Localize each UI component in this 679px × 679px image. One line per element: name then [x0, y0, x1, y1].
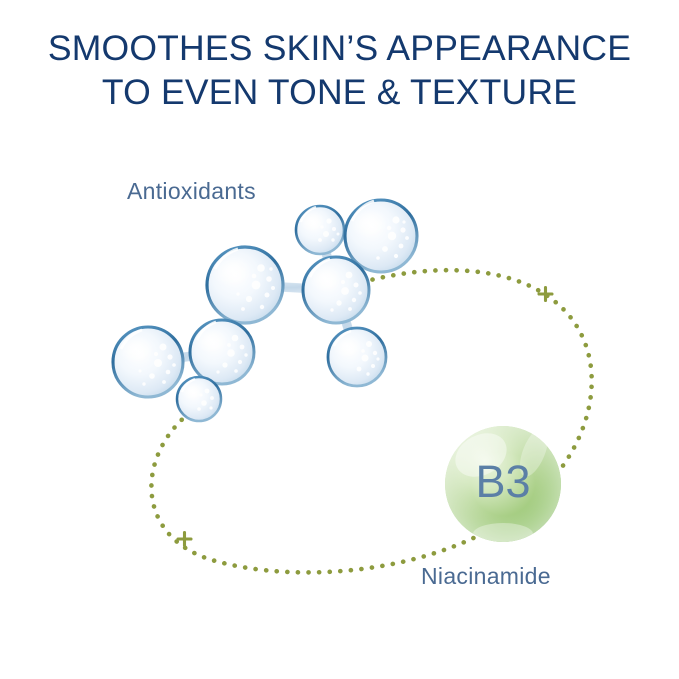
molecule-sphere [113, 327, 183, 397]
plus-icon-lower-left [178, 533, 191, 546]
b3-sphere-label: B3 [475, 456, 530, 507]
niacinamide-label: Niacinamide [421, 563, 551, 590]
page-title: SMOOTHES SKIN’S APPEARANCE TO EVEN TONE … [0, 26, 679, 114]
molecule-sphere [303, 257, 369, 323]
page-title-line-1: SMOOTHES SKIN’S APPEARANCE [0, 26, 679, 70]
niacinamide-b3-sphere: B3 [445, 424, 561, 576]
molecule-spheres [113, 200, 417, 421]
molecule-sphere [207, 247, 283, 323]
molecule-sphere [345, 200, 417, 272]
plus-icon-upper-right [539, 288, 552, 301]
antioxidants-label: Antioxidants [127, 178, 256, 205]
promo-graphic-canvas: B3 SMOOTHES SKIN’S APPEARANCE TO EVEN TO… [0, 0, 679, 679]
molecule-sphere [177, 377, 221, 421]
page-title-line-2: TO EVEN TONE & TEXTURE [0, 70, 679, 114]
molecule-sphere [296, 206, 344, 254]
molecule-sphere [190, 320, 254, 384]
molecule-sphere [328, 328, 386, 386]
